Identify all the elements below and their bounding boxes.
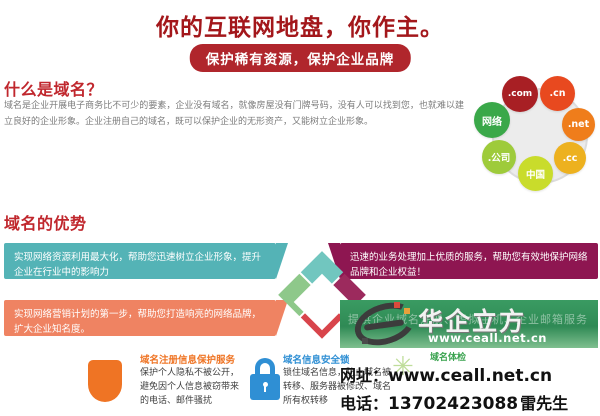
brand-e-logo-icon xyxy=(354,304,416,344)
lock-icon xyxy=(250,358,280,402)
contact-phone-row: 电话： 13702423088 雷先生 xyxy=(340,390,600,414)
section-advantage-title: 域名的优势 xyxy=(4,210,87,234)
advantage-item-3: 迅速的业务处理加上优质的服务，帮助您有效地保护网络品牌和企业权益！ xyxy=(340,243,598,279)
domain-bubble-zhongguo: 中国 xyxy=(518,156,553,191)
feature-domain-privacy: 域名注册信息保护服务 保护个人隐私不被公开，避免因个人信息被窃带来的电话、邮件骚… xyxy=(140,352,245,408)
domain-bubble-gongsi: .公司 xyxy=(482,140,516,174)
contact-phone-label: 电话： xyxy=(340,390,388,414)
contact-person-name: 雷先生 xyxy=(520,390,568,414)
domain-extension-diagram: .com .cn .net .cc 中国 .公司 网络 xyxy=(472,76,600,196)
page-title: 你的互联网地盘，你作主。 xyxy=(0,8,600,42)
feature-body: 保护个人隐私不被公开，避免因个人信息被窃带来的电话、邮件骚扰 xyxy=(140,366,245,408)
section-what-is-domain-title: 什么是域名？ xyxy=(4,76,103,100)
domain-bubble-cn: .cn xyxy=(540,76,575,111)
domain-bubble-net: .net xyxy=(562,108,595,141)
contact-url-label: 网址： xyxy=(340,362,388,386)
hero-ribbon-badge: 保护稀有资源，保护企业品牌 xyxy=(190,44,411,72)
contact-url-value: www.ceall.net.cn xyxy=(388,366,552,386)
domain-bubble-com: .com xyxy=(502,76,538,112)
lock-keyslot xyxy=(264,386,266,392)
domain-bubble-wangluo: 网络 xyxy=(474,102,510,138)
page-root: 你的互联网地盘，你作主。 保护稀有资源，保护企业品牌 什么是域名？ 域名是企业开… xyxy=(0,0,600,416)
section-what-is-domain-body: 域名是企业开展电子商务比不可少的要素，企业没有域名，就像房屋没有门牌号码，没有人… xyxy=(4,99,464,130)
logo-pixel-3 xyxy=(362,338,368,344)
brand-logo-url: www.ceall.net.cn xyxy=(428,331,547,345)
domain-bubble-cc: .cc xyxy=(554,142,586,174)
logo-pixel-2 xyxy=(404,308,410,314)
contact-phone-value: 13702423088 xyxy=(388,394,518,414)
feature-title: 域名注册信息保护服务 xyxy=(140,352,245,366)
logo-pixel-1 xyxy=(394,302,400,308)
contact-block: 网址： www.ceall.net.cn 电话： 13702423088 雷先生 xyxy=(340,362,600,414)
advantage-item-2: 实现网络营销计划的第一步，帮助您打造响亮的网络品牌，扩大企业知名度。 xyxy=(4,300,276,336)
shield-icon xyxy=(88,360,122,402)
brand-banner: 提供企业域名注册、虚拟主机、企业邮箱服务 华企立方 www.ceall.net.… xyxy=(340,300,598,348)
advantage-item-1: 实现网络资源利用最大化，帮助您迅速树立企业形象，提升企业在行业中的影响力 xyxy=(4,243,276,279)
contact-url-row: 网址： www.ceall.net.cn xyxy=(340,362,600,386)
advantage-tail-1 xyxy=(276,243,288,279)
